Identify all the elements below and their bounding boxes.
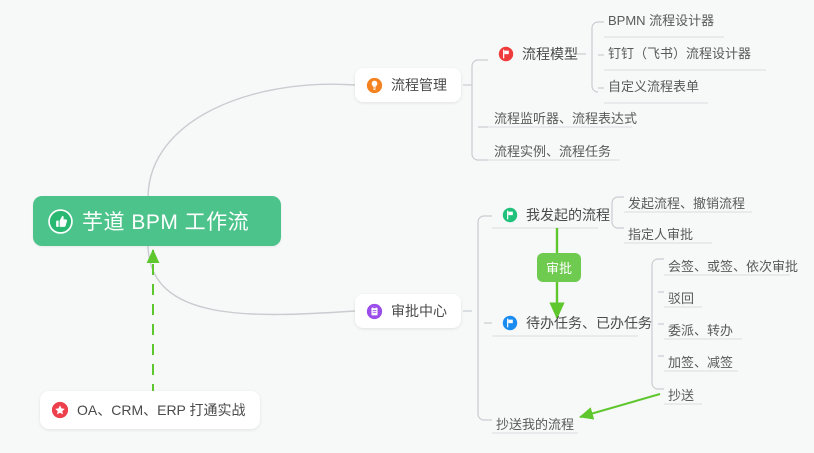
connector-model-bus — [592, 22, 598, 92]
node-my-started-process[interactable]: 我发起的流程 — [491, 201, 624, 229]
node-reject[interactable]: 驳回 — [664, 290, 698, 311]
node-process-model-label: 流程模型 — [522, 44, 578, 64]
approval-tag: 审批 — [537, 253, 581, 282]
node-cc-my-process[interactable]: 抄送我的流程 — [492, 416, 578, 437]
connector-pm-bus — [472, 60, 478, 160]
mindmap-canvas: 芋道 BPM 工作流 流程管理 流程模型 BPMN 流程设计器 钉钉（飞书）流程… — [0, 0, 814, 453]
bottom-note-label: OA、CRM、ERP 打通实战 — [77, 400, 246, 420]
flag-icon — [502, 207, 518, 223]
node-todo-done-tasks-label: 待办任务、已办任务 — [526, 313, 652, 333]
node-process-management[interactable]: 流程管理 — [355, 68, 461, 102]
node-countersign[interactable]: 会签、或签、依次审批 — [664, 258, 802, 279]
node-approval-center-label: 审批中心 — [391, 301, 447, 321]
node-custom-form[interactable]: 自定义流程表单 — [604, 78, 703, 99]
thumbs-up-icon — [48, 209, 73, 234]
lightbulb-icon — [366, 77, 383, 94]
node-bpmn-designer[interactable]: BPMN 流程设计器 — [604, 12, 718, 33]
node-todo-done-tasks[interactable]: 待办任务、已办任务 — [491, 309, 666, 337]
node-process-listener[interactable]: 流程监听器、流程表达式 — [490, 110, 641, 131]
node-delegate-transfer[interactable]: 委派、转办 — [664, 322, 737, 343]
node-approval-center[interactable]: 审批中心 — [355, 294, 461, 328]
node-add-remove-sign[interactable]: 加签、减签 — [664, 354, 737, 375]
connector-ac-bus — [478, 216, 484, 420]
arrow-cc-to-cc-my-process — [580, 394, 660, 417]
node-process-instance[interactable]: 流程实例、流程任务 — [490, 143, 615, 164]
node-carbon-copy[interactable]: 抄送 — [664, 387, 698, 408]
star-icon — [51, 401, 69, 419]
flag-icon — [498, 46, 514, 62]
node-dingtalk-feishu-designer[interactable]: 钉钉（飞书）流程设计器 — [604, 45, 755, 66]
node-start-cancel-process[interactable]: 发起流程、撤销流程 — [624, 195, 749, 216]
root-node[interactable]: 芋道 BPM 工作流 — [33, 196, 281, 246]
flag-icon — [502, 315, 518, 331]
node-process-model[interactable]: 流程模型 — [487, 39, 592, 69]
node-my-started-process-label: 我发起的流程 — [526, 205, 610, 225]
connector-root-to-process-management — [148, 84, 355, 196]
node-designated-approver[interactable]: 指定人审批 — [624, 226, 697, 247]
bottom-note-card[interactable]: OA、CRM、ERP 打通实战 — [40, 391, 260, 429]
node-process-management-label: 流程管理 — [391, 75, 447, 95]
connector-root-to-approval-center — [148, 246, 355, 315]
root-label: 芋道 BPM 工作流 — [82, 206, 249, 236]
clipboard-icon — [366, 303, 383, 320]
